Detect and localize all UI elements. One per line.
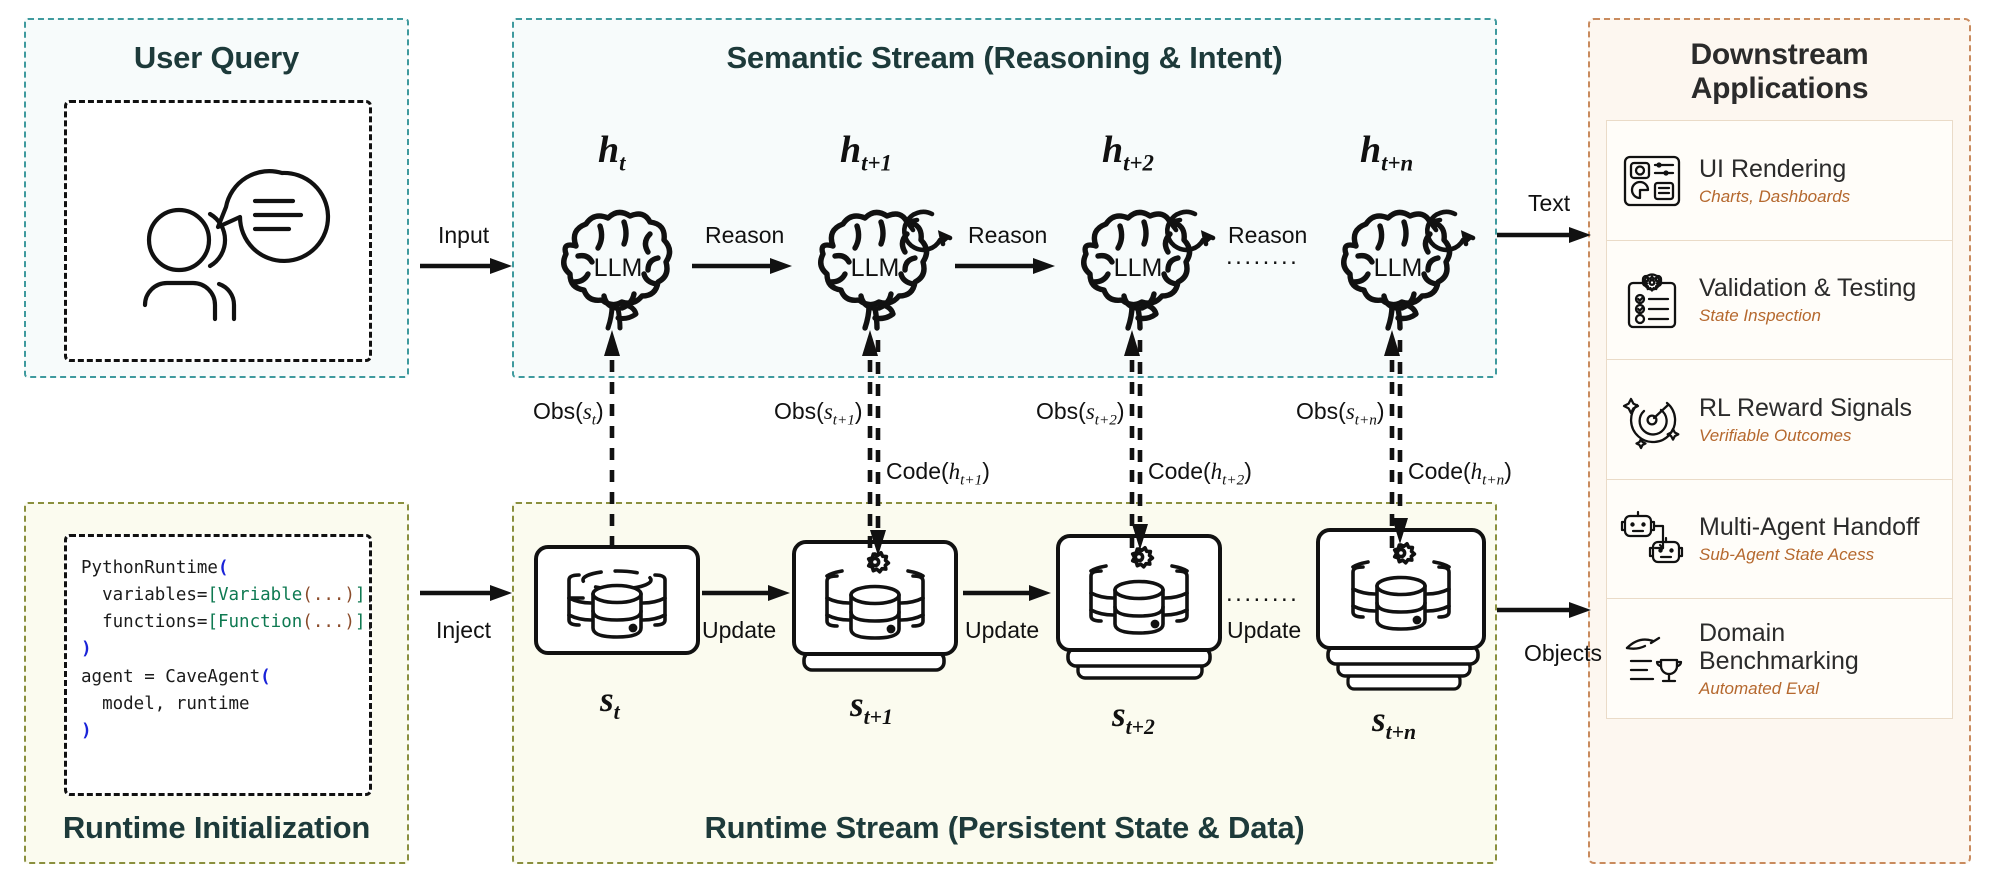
arrow-code-1 (1132, 340, 1148, 550)
downstream-title-line1: Downstream (1690, 38, 1868, 71)
panel-downstream-applications: Downstream Applications (1588, 18, 1971, 864)
runtime-node-label-0: st (600, 680, 620, 725)
brain-label: LLM (594, 254, 643, 282)
arrow-reason-1 (955, 256, 1055, 276)
code-token: , (366, 585, 377, 605)
svg-text:LLM: LLM (851, 254, 900, 282)
brain-icon: LLM (538, 200, 698, 330)
diagram-canvas: User Query (0, 0, 1996, 884)
list-item-subtitle: Automated Eval (1699, 680, 1940, 699)
svg-text:LLM: LLM (1374, 254, 1423, 282)
code-token: , (366, 612, 377, 632)
semantic-node-label-2: ht+2 (1102, 128, 1154, 177)
obs-label-1: Obs(st+1) (774, 398, 863, 430)
code-token: (...) (302, 585, 355, 605)
code-token: agent = CaveAgent (81, 667, 260, 687)
semantic-stream-title: Semantic Stream (Reasoning & Intent) (514, 40, 1495, 76)
code-token: ) (81, 721, 92, 741)
code-block: PythonRuntime( variables=[Variable(...)]… (64, 534, 372, 796)
arrow-label-input: Input (438, 222, 489, 249)
user-query-icon-box (64, 100, 372, 362)
semantic-node-label-0: ht (598, 128, 625, 177)
panel-runtime-initialization: PythonRuntime( variables=[Variable(...)]… (24, 502, 409, 864)
code-label-2: Code(ht+n) (1408, 458, 1512, 490)
arrow-update-0 (702, 583, 790, 603)
list-item-text: Validation & Testing State Inspection (1699, 274, 1916, 326)
list-item[interactable]: UI Rendering Charts, Dashboards (1606, 120, 1953, 241)
list-item[interactable]: Validation & Testing State Inspection (1606, 240, 1953, 361)
code-token: ) (81, 639, 92, 659)
list-item-text: UI Rendering Charts, Dashboards (1699, 155, 1850, 207)
arrow-label-objects: Objects (1524, 640, 1602, 667)
obs-label-2: Obs(st+2) (1036, 398, 1125, 430)
state-box-1 (790, 540, 960, 675)
downstream-title: Downstream Applications (1590, 38, 1969, 105)
arrow-label-text: Text (1528, 190, 1570, 217)
code-token: model, runtime (81, 694, 250, 714)
arrow-label-update-1: Update (965, 617, 1039, 644)
list-item-title: Domain Benchmarking (1699, 619, 1940, 675)
code-token: [ (207, 585, 218, 605)
state-box-0 (534, 545, 700, 655)
two-robots-icon (1619, 506, 1685, 572)
code-token: PythonRuntime (81, 558, 218, 578)
code-token: ] (355, 612, 366, 632)
obs-label-0: Obs(st) (533, 398, 604, 430)
code-token: ( (218, 558, 229, 578)
list-item-text: Multi-Agent Handoff Sub-Agent State Aces… (1699, 513, 1920, 565)
list-item-title: UI Rendering (1699, 155, 1850, 183)
list-item-subtitle: State Inspection (1699, 307, 1916, 326)
semantic-ellipsis: ........ (1226, 243, 1299, 271)
code-label-0: Code(ht+1) (886, 458, 990, 490)
target-sparkle-icon (1619, 387, 1685, 453)
arrow-label-update-2: Update (1227, 617, 1301, 644)
brain-icon: LLM (795, 200, 970, 330)
runtime-stream-title: Runtime Stream (Persistent State & Data) (514, 810, 1495, 846)
obs-label-3: Obs(st+n) (1296, 398, 1385, 430)
arrow-code-2 (1392, 340, 1408, 544)
svg-text:LLM: LLM (1114, 254, 1163, 282)
arrow-label-update-0: Update (702, 617, 776, 644)
code-text: PythonRuntime( variables=[Variable(...)]… (81, 555, 355, 745)
state-box-2 (1052, 534, 1226, 686)
arrow-label-inject: Inject (436, 617, 491, 644)
clipboard-checklist-gear-icon (1619, 267, 1685, 333)
code-label-1: Code(ht+2) (1148, 458, 1252, 490)
arrow-update-1 (963, 583, 1051, 603)
runtime-ellipsis: ........ (1226, 580, 1299, 608)
list-item-title: RL Reward Signals (1699, 394, 1912, 422)
arrow-obs-0 (604, 330, 620, 550)
runtime-initialization-title: Runtime Initialization (26, 810, 407, 846)
code-token: (...) (302, 612, 355, 632)
user-with-speech-bubble-icon (67, 103, 369, 359)
arrow-output-text (1497, 225, 1591, 245)
code-token: Variable (218, 585, 302, 605)
runtime-node-label-1: st+1 (850, 685, 893, 730)
list-item-title: Multi-Agent Handoff (1699, 513, 1920, 541)
arrow-output-objects (1497, 600, 1591, 620)
runtime-node-label-3: st+n (1372, 700, 1416, 745)
code-token: [ (207, 612, 218, 632)
state-box-3 (1312, 528, 1492, 696)
code-token: variables= (81, 585, 207, 605)
list-item-title: Validation & Testing (1699, 274, 1916, 302)
list-item-subtitle: Charts, Dashboards (1699, 188, 1850, 207)
list-item-subtitle: Verifiable Outcomes (1699, 427, 1912, 446)
list-item[interactable]: RL Reward Signals Verifiable Outcomes (1606, 359, 1953, 480)
arrow-reason-0 (692, 256, 792, 276)
brain-icon: LLM (1318, 200, 1493, 330)
code-token: Function (218, 612, 302, 632)
list-item-text: Domain Benchmarking Automated Eval (1699, 619, 1940, 699)
code-token: ] (355, 585, 366, 605)
arrow-code-0 (870, 340, 886, 556)
list-item[interactable]: Multi-Agent Handoff Sub-Agent State Aces… (1606, 479, 1953, 600)
arrow-input (420, 256, 512, 276)
semantic-node-label-3: ht+n (1360, 128, 1413, 177)
dashboard-layout-icon (1619, 148, 1685, 214)
panel-user-query: User Query (24, 18, 409, 378)
runtime-node-label-2: st+2 (1112, 695, 1155, 740)
user-query-title: User Query (26, 40, 407, 76)
downstream-app-list: UI Rendering Charts, Dashboards (1606, 120, 1953, 718)
arrow-inject (420, 583, 512, 603)
semantic-node-label-1: ht+1 (840, 128, 892, 177)
arrow-label-reason-1: Reason (968, 222, 1047, 249)
list-item-subtitle: Sub-Agent State Acess (1699, 546, 1920, 565)
list-item-text: RL Reward Signals Verifiable Outcomes (1699, 394, 1912, 446)
brain-icon: LLM (1058, 200, 1233, 330)
arrow-label-reason-0: Reason (705, 222, 784, 249)
list-item[interactable]: Domain Benchmarking Automated Eval (1606, 598, 1953, 719)
code-token: functions= (81, 612, 207, 632)
code-token: ( (260, 667, 271, 687)
trophy-chart-icon (1619, 626, 1685, 692)
downstream-title-line2: Applications (1691, 72, 1869, 105)
